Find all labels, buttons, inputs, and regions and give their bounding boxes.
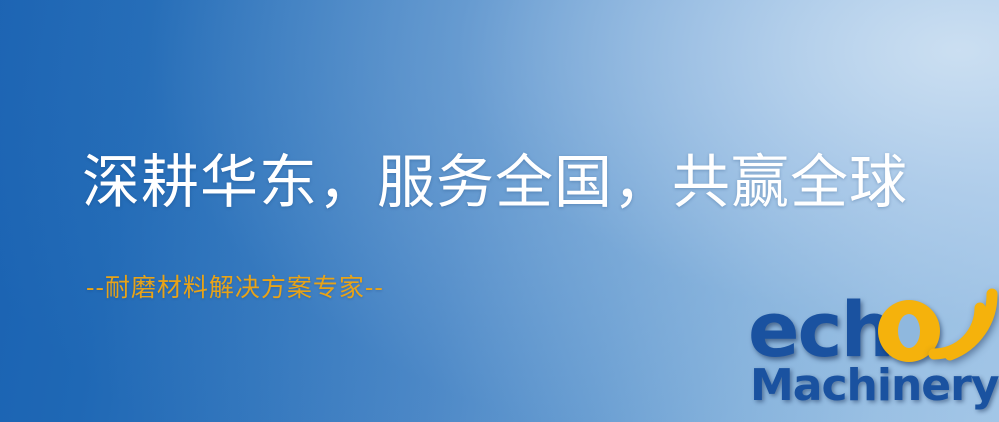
hero-banner: 深耕华东，服务全国，共赢全球 --耐磨材料解决方案专家-- ech Machin… bbox=[0, 0, 999, 422]
logo-wordmark-ech: ech bbox=[748, 292, 893, 368]
banner-headline: 深耕华东，服务全国，共赢全球 bbox=[82, 152, 908, 213]
banner-subtitle: --耐磨材料解决方案专家-- bbox=[86, 268, 384, 304]
logo-o-counter bbox=[898, 314, 920, 348]
logo-wordmark-machinery: Machinery® bbox=[750, 364, 999, 408]
logo-text-machinery: Machinery bbox=[750, 360, 999, 411]
signal-wave-icon bbox=[928, 284, 999, 362]
echo-machinery-logo[interactable]: ech Machinery® bbox=[742, 296, 994, 420]
